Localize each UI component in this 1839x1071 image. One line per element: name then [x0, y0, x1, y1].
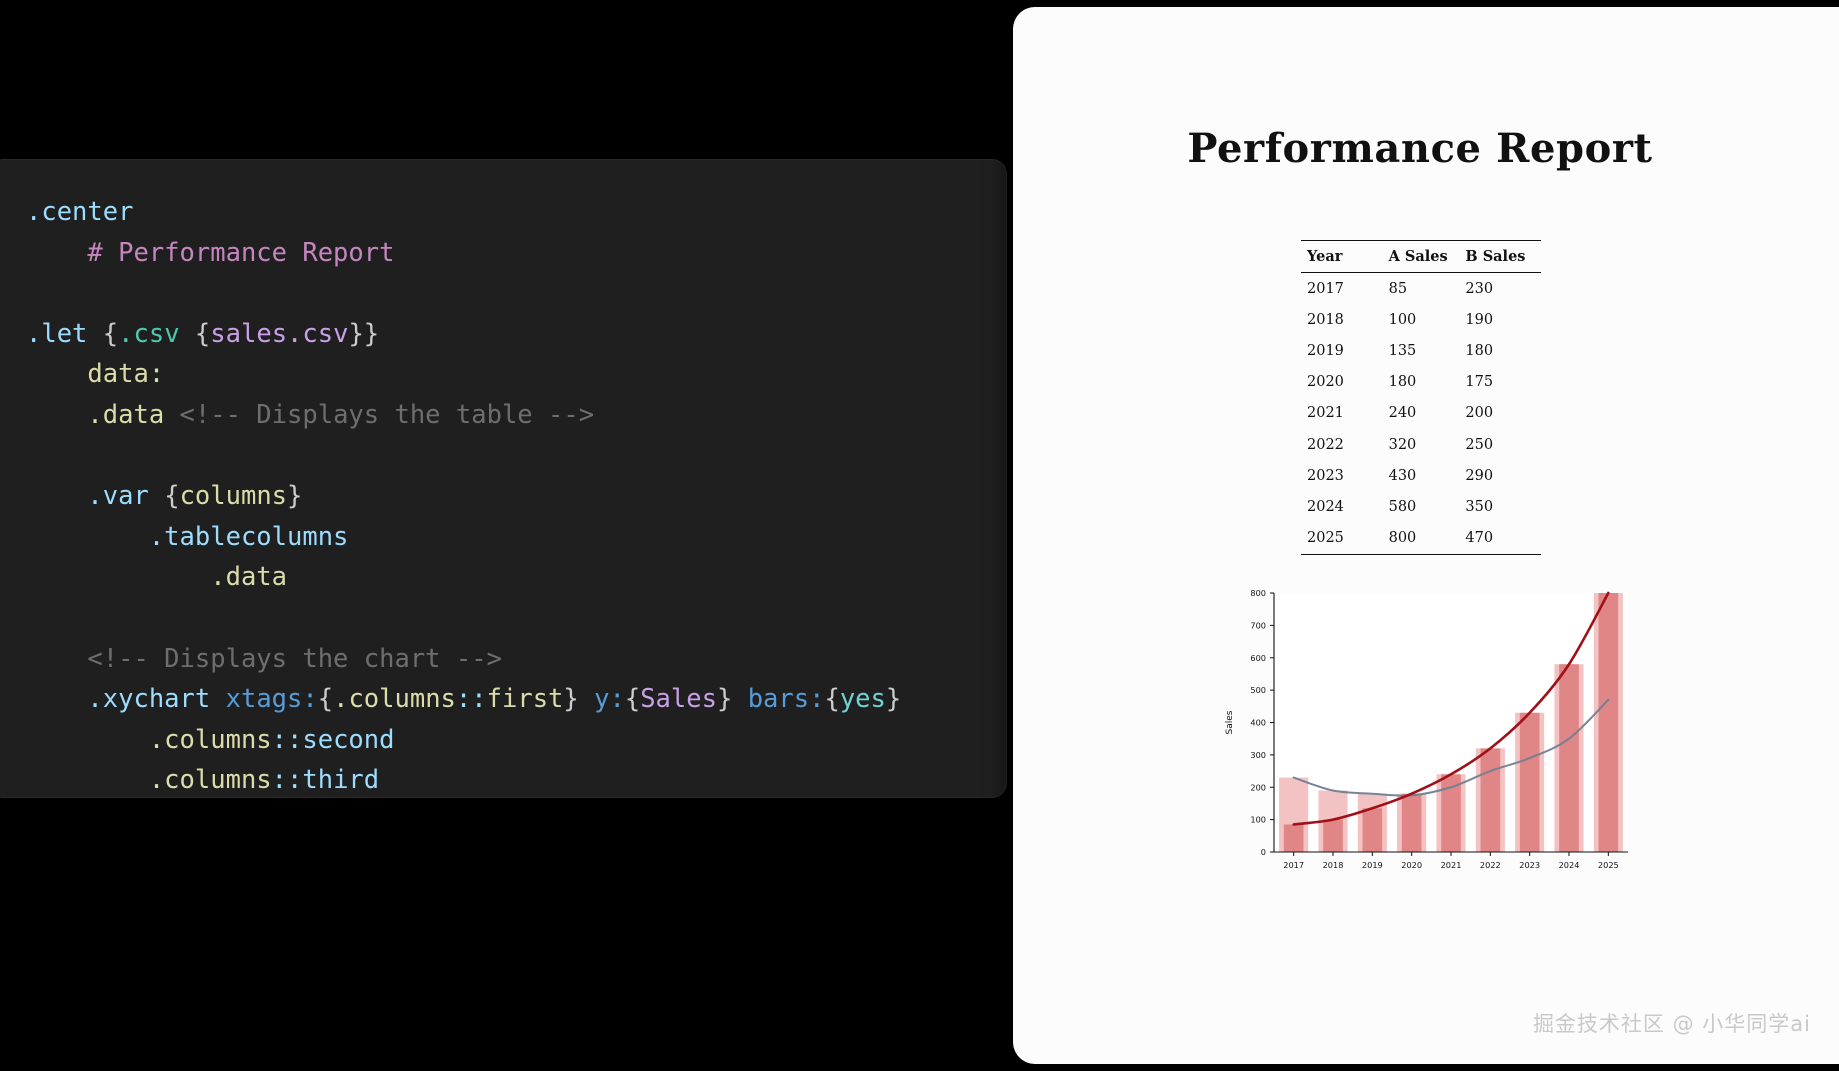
- code-token: .let: [26, 319, 87, 349]
- bar-a-sales: [1599, 593, 1619, 852]
- code-token: [26, 522, 149, 552]
- column-header-a-sales: A Sales: [1383, 241, 1460, 273]
- code-content[interactable]: .center # Performance Report .let {.csv …: [0, 160, 1006, 797]
- bar-a-sales: [1363, 808, 1383, 852]
- code-token: <!-- Displays the chart -->: [87, 644, 502, 674]
- cell-b-sales: 250: [1459, 429, 1541, 460]
- cell-year: 2020: [1301, 367, 1383, 398]
- code-token: [180, 319, 195, 349]
- bar-a-sales: [1323, 819, 1343, 851]
- y-axis-tick-label: 500: [1250, 685, 1266, 695]
- code-token: .columns: [149, 765, 272, 795]
- table-body: 2017852302018100190201913518020201801752…: [1301, 273, 1541, 555]
- table-row: 201785230: [1301, 273, 1541, 305]
- bar-a-sales: [1284, 824, 1304, 852]
- code-line: .data: [26, 557, 1006, 598]
- cell-a-sales: 800: [1383, 523, 1460, 555]
- table-row: 2019135180: [1301, 335, 1541, 366]
- x-axis-tick-label: 2025: [1598, 860, 1619, 870]
- cell-b-sales: 470: [1459, 523, 1541, 555]
- code-line: .columns::second: [26, 720, 1006, 761]
- code-token: [26, 481, 87, 511]
- code-token: [164, 400, 179, 430]
- x-axis-tick-label: 2021: [1441, 860, 1462, 870]
- code-line: .xychart xtags:{.columns::first} y:{Sale…: [26, 679, 1006, 720]
- code-token: .xychart: [87, 684, 210, 714]
- x-axis-tick-label: 2024: [1559, 860, 1580, 870]
- code-token: {: [195, 319, 210, 349]
- code-token: .columns: [149, 725, 272, 755]
- code-token: .tablecolumns: [149, 522, 349, 552]
- cell-a-sales: 580: [1383, 491, 1460, 522]
- code-line: .tablecolumns: [26, 517, 1006, 558]
- cell-year: 2023: [1301, 460, 1383, 491]
- chart-container: 0100200300400500600700800201720182019202…: [1216, 585, 1636, 890]
- code-token: .center: [26, 197, 133, 227]
- code-token: columns: [180, 481, 287, 511]
- x-axis-tick-label: 2023: [1519, 860, 1540, 870]
- code-token: .var: [87, 481, 148, 511]
- code-token: [26, 400, 87, 430]
- code-token: [26, 359, 87, 389]
- code-token: [579, 684, 594, 714]
- code-token: [26, 765, 149, 795]
- y-axis-tick-label: 0: [1261, 847, 1266, 857]
- column-header-year: Year: [1301, 241, 1383, 273]
- x-axis-tick-label: 2018: [1323, 860, 1344, 870]
- code-token: [732, 684, 747, 714]
- code-token: # Performance Report: [87, 238, 394, 268]
- code-line: .center: [26, 192, 1006, 233]
- column-header-b-sales: B Sales: [1459, 241, 1541, 273]
- bar-a-sales: [1441, 774, 1461, 852]
- table-row: 2024580350: [1301, 491, 1541, 522]
- bar-a-sales: [1520, 712, 1540, 851]
- code-line: <!-- Displays the chart -->: [26, 639, 1006, 680]
- cell-year: 2025: [1301, 523, 1383, 555]
- y-axis-tick-label: 700: [1250, 620, 1266, 630]
- code-token: .data: [210, 562, 287, 592]
- x-axis-tick-label: 2022: [1480, 860, 1501, 870]
- code-line: [26, 598, 1006, 639]
- bar-a-sales: [1402, 793, 1422, 851]
- cell-a-sales: 320: [1383, 429, 1460, 460]
- sales-xychart: 0100200300400500600700800201720182019202…: [1216, 585, 1636, 890]
- code-token: {: [318, 684, 333, 714]
- code-token: }: [563, 684, 578, 714]
- cell-b-sales: 175: [1459, 367, 1541, 398]
- code-editor-panel[interactable]: .center # Performance Report .let {.csv …: [0, 160, 1006, 797]
- bar-a-sales: [1559, 664, 1579, 852]
- cell-a-sales: 100: [1383, 304, 1460, 335]
- code-token: first: [487, 684, 564, 714]
- cell-b-sales: 180: [1459, 335, 1541, 366]
- y-axis-tick-label: 100: [1250, 814, 1266, 824]
- code-token: second: [302, 725, 394, 755]
- code-token: }: [886, 684, 901, 714]
- code-line: [26, 273, 1006, 314]
- code-token: [87, 319, 102, 349]
- code-token: ::: [456, 684, 487, 714]
- y-axis-tick-label: 300: [1250, 750, 1266, 760]
- page-title: Performance Report: [1013, 125, 1839, 172]
- cell-year: 2019: [1301, 335, 1383, 366]
- cell-a-sales: 180: [1383, 367, 1460, 398]
- table-header-row: Year A Sales B Sales: [1301, 241, 1541, 273]
- code-token: [26, 684, 87, 714]
- code-token: }: [717, 684, 732, 714]
- data-table-container: Year A Sales B Sales 2017852302018100190…: [1301, 240, 1551, 555]
- code-token: [26, 725, 149, 755]
- code-token: [210, 684, 225, 714]
- code-token: .data: [87, 400, 164, 430]
- bar-a-sales: [1481, 748, 1501, 852]
- code-token: [26, 238, 87, 268]
- code-line: .data <!-- Displays the table -->: [26, 395, 1006, 436]
- code-token: y:: [594, 684, 625, 714]
- table-row: 2022320250: [1301, 429, 1541, 460]
- code-token: ::: [272, 725, 303, 755]
- code-token: data:: [87, 359, 164, 389]
- code-line: .let {.csv {sales.csv}}: [26, 314, 1006, 355]
- code-token: bars:: [748, 684, 825, 714]
- code-line: data:: [26, 354, 1006, 395]
- watermark-label: 掘金技术社区 @ 小华同学ai: [1533, 1008, 1811, 1038]
- x-axis-tick-label: 2019: [1362, 860, 1383, 870]
- cell-year: 2022: [1301, 429, 1383, 460]
- cell-year: 2018: [1301, 304, 1383, 335]
- y-axis-tick-label: 800: [1250, 588, 1266, 598]
- table-head: Year A Sales B Sales: [1301, 241, 1541, 273]
- cell-year: 2021: [1301, 398, 1383, 429]
- y-axis-tick-label: 600: [1250, 652, 1266, 662]
- code-token: }: [287, 481, 302, 511]
- table-row: 2018100190: [1301, 304, 1541, 335]
- code-token: {: [625, 684, 640, 714]
- table-row: 2025800470: [1301, 523, 1541, 555]
- sales-table: Year A Sales B Sales 2017852302018100190…: [1301, 240, 1541, 555]
- code-token: Sales: [640, 684, 717, 714]
- y-axis-tick-label: 200: [1250, 782, 1266, 792]
- cell-b-sales: 350: [1459, 491, 1541, 522]
- code-line: .var {columns}: [26, 476, 1006, 517]
- code-token: ::: [272, 765, 303, 795]
- code-token: [26, 562, 210, 592]
- cell-a-sales: 85: [1383, 273, 1460, 305]
- cell-a-sales: 135: [1383, 335, 1460, 366]
- cell-b-sales: 290: [1459, 460, 1541, 491]
- cell-year: 2024: [1301, 491, 1383, 522]
- cell-a-sales: 240: [1383, 398, 1460, 429]
- table-row: 2020180175: [1301, 367, 1541, 398]
- code-token: .columns: [333, 684, 456, 714]
- code-token: <!-- Displays the table -->: [180, 400, 595, 430]
- cell-a-sales: 430: [1383, 460, 1460, 491]
- y-axis-title: Sales: [1225, 710, 1235, 734]
- code-token: {: [164, 481, 179, 511]
- table-row: 2023430290: [1301, 460, 1541, 491]
- code-token: third: [302, 765, 379, 795]
- code-token: sales.csv: [210, 319, 348, 349]
- code-token: xtags:: [226, 684, 318, 714]
- code-token: yes: [840, 684, 886, 714]
- x-axis-tick-label: 2017: [1283, 860, 1304, 870]
- code-line: # Performance Report: [26, 233, 1006, 274]
- code-line: [26, 436, 1006, 477]
- code-token: }}: [348, 319, 379, 349]
- cell-b-sales: 190: [1459, 304, 1541, 335]
- code-token: [26, 644, 87, 674]
- code-token: {: [824, 684, 839, 714]
- document-preview-panel[interactable]: Performance Report Year A Sales B Sales …: [1013, 7, 1839, 1064]
- y-axis-tick-label: 400: [1250, 717, 1266, 727]
- cell-b-sales: 200: [1459, 398, 1541, 429]
- x-axis-tick-label: 2020: [1401, 860, 1422, 870]
- code-line: .columns::third: [26, 760, 1006, 797]
- cell-year: 2017: [1301, 273, 1383, 305]
- code-token: {: [103, 319, 118, 349]
- screenshot-stage: .center # Performance Report .let {.csv …: [0, 0, 1839, 1071]
- code-token: [149, 481, 164, 511]
- table-row: 2021240200: [1301, 398, 1541, 429]
- code-token: .csv: [118, 319, 179, 349]
- cell-b-sales: 230: [1459, 273, 1541, 305]
